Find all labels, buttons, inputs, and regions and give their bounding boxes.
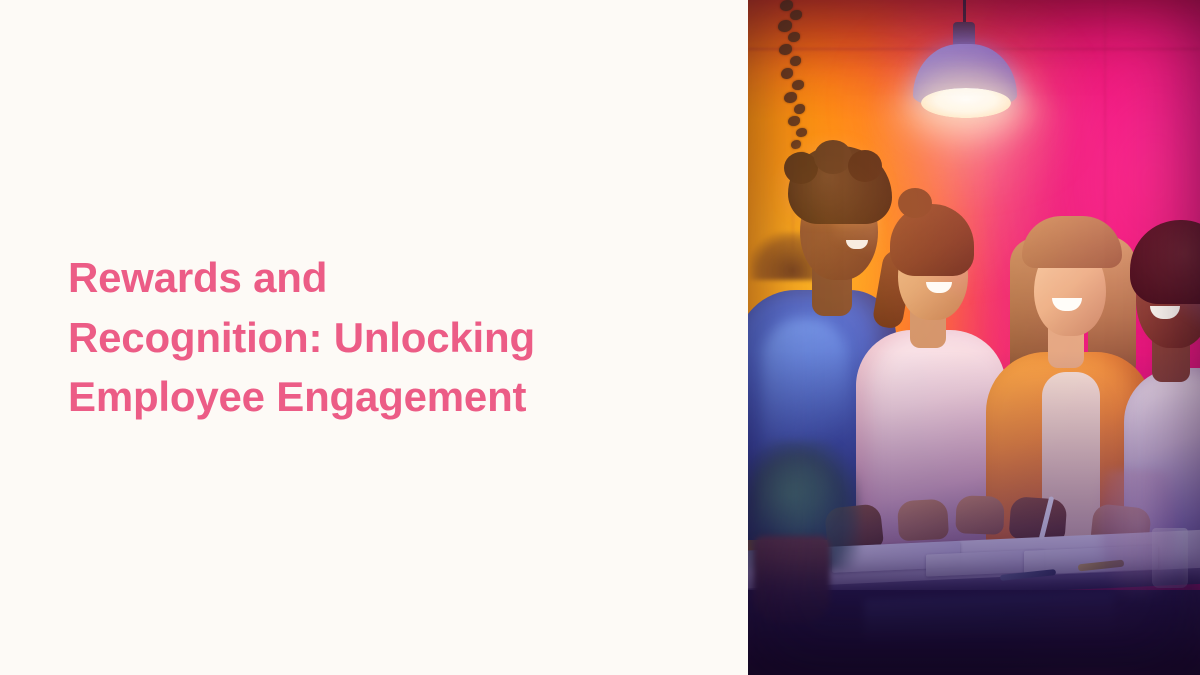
hero-photo — [748, 0, 1200, 675]
person-1-curl — [814, 140, 852, 174]
foreground-blur — [748, 557, 1200, 675]
hand — [897, 499, 949, 542]
hand — [1009, 496, 1068, 542]
photo-stage — [748, 0, 1200, 675]
wall-seam-vertical-right — [1104, 0, 1106, 230]
foreground-plant-leaves — [758, 452, 838, 540]
page-title: Rewards and Recognition: Unlocking Emplo… — [68, 248, 648, 427]
person-3-hair-top — [1022, 216, 1122, 268]
person-1-curl — [784, 152, 818, 184]
text-panel: Rewards and Recognition: Unlocking Emplo… — [0, 0, 748, 675]
title-slide: Rewards and Recognition: Unlocking Emplo… — [0, 0, 1200, 675]
person-2-hair-bun — [898, 188, 932, 218]
person-1-curl — [848, 150, 882, 182]
hand — [955, 495, 1004, 535]
